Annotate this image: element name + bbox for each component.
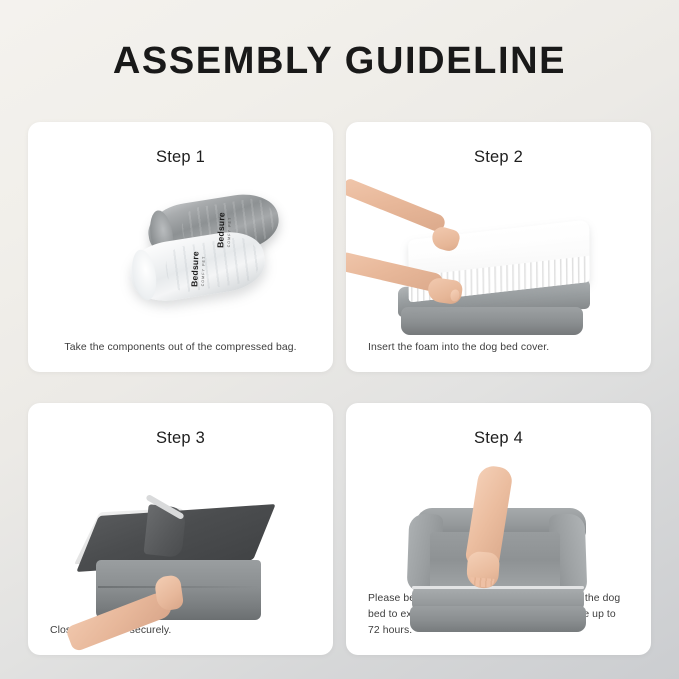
zipper-closing-illustration (28, 448, 333, 623)
step-card-1: Step 1 Bedsure COMFY PET Bedsure COMFY P… (28, 122, 333, 372)
page-title: ASSEMBLY GUIDELINE (0, 40, 679, 83)
bed-white-piping (412, 586, 584, 589)
step-title-4: Step 4 (346, 429, 651, 448)
pressing-hand (466, 551, 500, 589)
step-illustration-1: Bedsure COMFY PET Bedsure COMFY PET (28, 167, 333, 340)
steps-grid: Step 1 Bedsure COMFY PET Bedsure COMFY P… (28, 122, 651, 655)
upper-arm (346, 177, 447, 233)
step-title-3: Step 3 (28, 429, 333, 448)
assembly-guideline-page: ASSEMBLY GUIDELINE Step 1 Bedsure COMFY … (0, 0, 679, 679)
bed-base (410, 606, 586, 632)
step-card-3: Step 3 Close the zipper securely. (28, 403, 333, 655)
brand-label-gray-roll: Bedsure (215, 212, 226, 248)
step-caption-2: Insert the foam into the dog bed cover. (346, 340, 651, 372)
step-illustration-3 (28, 448, 333, 623)
foam-insertion-illustration (346, 167, 651, 340)
step-card-2: Step 2 Insert the foam into the dog b (346, 122, 651, 372)
step-title-2: Step 2 (346, 148, 651, 167)
step-caption-1: Take the components out of the compresse… (28, 340, 333, 372)
cover-lower-shell (401, 307, 583, 335)
step-card-4: Step 4 Please beat the sponge thoroughly… (346, 403, 651, 655)
step-title-1: Step 1 (28, 148, 333, 167)
compressed-rolls-illustration: Bedsure COMFY PET Bedsure COMFY PET (28, 167, 333, 340)
brand-label-white-roll: Bedsure (189, 251, 200, 287)
step-illustration-2 (346, 167, 651, 340)
step-illustration-4 (346, 448, 651, 591)
expanded-dog-bed-illustration (346, 448, 651, 591)
